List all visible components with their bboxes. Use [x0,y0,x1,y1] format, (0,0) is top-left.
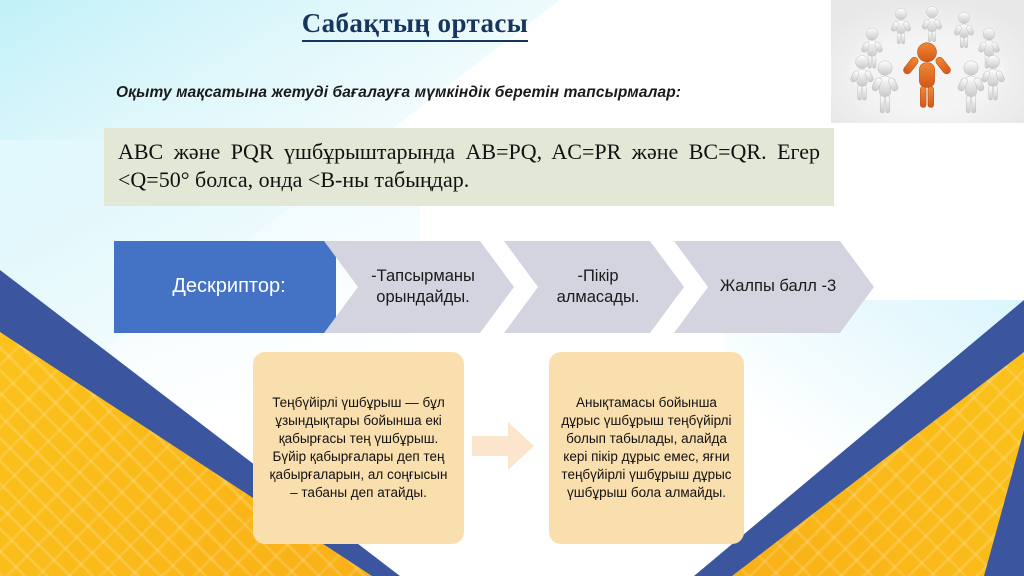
callout-equilateral-note: Анықтамасы бойынша дұрыс үшбұрыш теңбүйі… [549,352,744,544]
arrow-right-connector [470,420,536,472]
process-step-1-label: Дескриптор: [138,274,311,300]
arrow-right-icon [470,420,536,472]
process-step-3-label: -Пікір алмасады. [504,266,684,308]
process-step-descriptor[interactable]: Дескриптор: [114,241,336,333]
callout-left-text: Теңбүйірлі үшбұрыш — бұл ұзындықтары бой… [265,394,452,502]
objectives-subtitle: Оқыту мақсатына жетуді бағалауға мүмкінд… [116,84,681,102]
process-step-4-label: Жалпы балл -3 [686,276,862,297]
callout-isosceles-definition: Теңбүйірлі үшбұрыш — бұл ұзындықтары бой… [253,352,464,544]
blue-sliver-right-edge [984,430,1024,576]
teamwork-image [831,0,1024,123]
presentation-slide: Сабақтың ортасы [0,0,1024,576]
yellow-triangle-bottom-right [732,352,1024,576]
process-step-2-label: -Тапсырманы орындайды. [324,266,514,308]
process-step-feedback[interactable]: -Пікір алмасады. [504,241,684,333]
process-step-total-score[interactable]: Жалпы балл -3 [674,241,874,333]
callout-right-text: Анықтамасы бойынша дұрыс үшбұрыш теңбүйі… [561,394,732,502]
slide-title: Сабақтың ортасы [0,8,830,39]
process-step-task[interactable]: -Тапсырманы орындайды. [324,241,514,333]
teamwork-circle-figures-icon [831,0,1024,123]
cyan-wash-right [724,300,1024,530]
descriptor-process-row: Дескриптор: -Тапсырманы орындайды. -Пікі… [114,241,874,333]
task-statement-box: ABC және PQR үшбұрыштарында AB=PQ, AC=PR… [104,128,834,206]
slide-title-text: Сабақтың ортасы [302,8,529,42]
